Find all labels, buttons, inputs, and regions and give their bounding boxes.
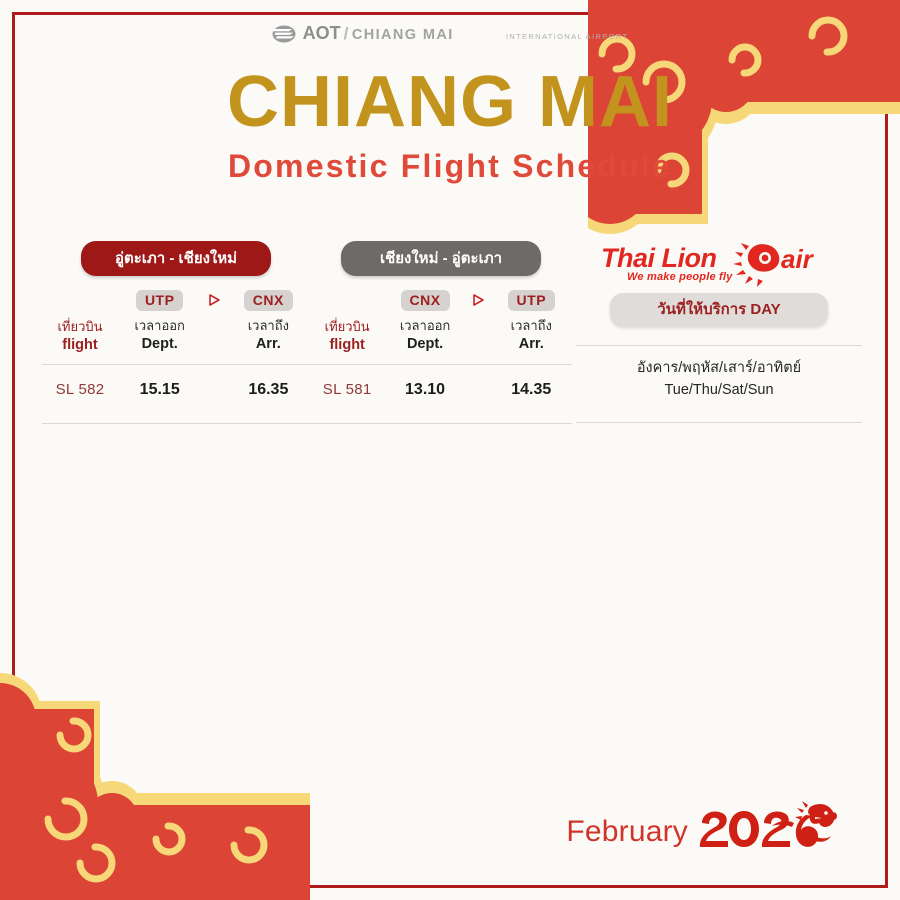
table-row: SL 582 15.15 16.35 bbox=[42, 365, 310, 414]
column-header-flight-en: flight bbox=[42, 336, 118, 356]
column-header-departure: CNX เวลาออก Dept. bbox=[384, 288, 465, 355]
column-header-arrival: CNX เวลาถึง Arr. bbox=[227, 288, 310, 355]
column-header-dept-en: Dept. bbox=[384, 335, 465, 355]
schedule-group-inbound: เชียงใหม่ - อู่ตะเภา เที่ยวบิน flight CN… bbox=[310, 241, 572, 424]
table-rule-bottom bbox=[42, 423, 310, 424]
poster-canvas: AOT/CHIANG MAI INTERNATIONAL AIRPORT CHI… bbox=[0, 0, 900, 900]
route-badge-inbound: เชียงใหม่ - อู่ตะเภา bbox=[341, 241, 541, 276]
aot-logo: AOT/CHIANG MAI INTERNATIONAL AIRPORT bbox=[0, 24, 900, 48]
column-headers-inbound: เที่ยวบิน flight CNX เวลาออก Dept. bbox=[310, 288, 572, 355]
triangle-right-icon bbox=[466, 288, 491, 312]
cell-arrival-time: 14.35 bbox=[491, 381, 572, 399]
schedule-group-airline: Thai Lion air We make people fly bbox=[576, 241, 862, 423]
aot-logo-text: AOT/CHIANG MAI INTERNATIONAL AIRPORT bbox=[303, 24, 629, 43]
horse-papercut-2026-icon bbox=[698, 801, 838, 862]
column-header-flight: เที่ยวบิน flight bbox=[310, 288, 384, 355]
svg-text:air: air bbox=[781, 244, 815, 274]
airport-subtitle: INTERNATIONAL AIRPORT bbox=[506, 32, 629, 41]
origin-airport-code-chip: UTP bbox=[136, 290, 184, 311]
cell-service-days-en: Tue/Thu/Sat/Sun bbox=[576, 380, 862, 402]
column-header-flight-en: flight bbox=[310, 336, 384, 356]
page-subtitle: Domestic Flight Schedule bbox=[0, 148, 900, 185]
column-header-arr-th: เวลาถึง bbox=[227, 317, 310, 335]
table-row: SL 581 13.10 14.35 bbox=[310, 365, 572, 414]
cell-departure-time: 13.10 bbox=[384, 381, 465, 399]
column-header-departure: UTP เวลาออก Dept. bbox=[118, 288, 201, 355]
origin-airport-code-chip: CNX bbox=[401, 290, 450, 311]
svg-text:Thai Lion: Thai Lion bbox=[601, 243, 716, 273]
poster-header: AOT/CHIANG MAI INTERNATIONAL AIRPORT CHI… bbox=[0, 0, 900, 185]
column-header-dept-en: Dept. bbox=[118, 335, 201, 355]
table-rule-bottom bbox=[576, 422, 862, 423]
column-header-flight: เที่ยวบิน flight bbox=[42, 288, 118, 355]
schedule-group-outbound: อู่ตะเภา - เชียงใหม่ เที่ยวบิน flight UT… bbox=[42, 241, 310, 424]
destination-airport-code-chip: UTP bbox=[508, 290, 556, 311]
schedule-table: อู่ตะเภา - เชียงใหม่ เที่ยวบิน flight UT… bbox=[0, 241, 900, 424]
column-header-arrival: UTP เวลาถึง Arr. bbox=[491, 288, 572, 355]
airport-name: CHIANG MAI bbox=[352, 27, 454, 43]
aot-name: AOT bbox=[303, 23, 341, 43]
column-headers-outbound: เที่ยวบิน flight UTP เวลาออก Dept. bbox=[42, 288, 310, 355]
table-row: อังคาร/พฤหัส/เสาร์/อาทิตย์ Tue/Thu/Sat/S… bbox=[576, 346, 862, 413]
cloud-corner-icon-bottom-left bbox=[0, 671, 310, 900]
route-badge-outbound: อู่ตะเภา - เชียงใหม่ bbox=[81, 241, 271, 276]
cell-service-days-th: อังคาร/พฤหัส/เสาร์/อาทิตย์ bbox=[576, 358, 862, 380]
cell-departure-time: 15.15 bbox=[118, 381, 201, 399]
month-label: February bbox=[566, 815, 688, 849]
column-header-arr-en: Arr. bbox=[491, 335, 572, 355]
poster-footer: February bbox=[566, 801, 838, 862]
service-day-badge: วันที่ให้บริการ DAY bbox=[610, 293, 828, 326]
aot-separator: / bbox=[344, 24, 349, 43]
page-title: CHIANG MAI bbox=[0, 66, 900, 138]
cell-flight-number: SL 581 bbox=[310, 381, 384, 399]
thai-lion-air-logo: Thai Lion air We make people fly bbox=[576, 241, 862, 287]
aot-globe-icon bbox=[272, 25, 296, 48]
destination-airport-code-chip: CNX bbox=[244, 290, 293, 311]
triangle-right-icon bbox=[201, 288, 226, 312]
table-rule-bottom bbox=[310, 423, 572, 424]
svg-text:We make people fly: We make people fly bbox=[627, 271, 733, 283]
column-header-arr-th: เวลาถึง bbox=[491, 317, 572, 335]
cell-arrival-time: 16.35 bbox=[227, 381, 310, 399]
column-header-flight-th: เที่ยวบิน bbox=[310, 318, 384, 336]
column-header-flight-th: เที่ยวบิน bbox=[42, 318, 118, 336]
column-header-arr-en: Arr. bbox=[227, 335, 310, 355]
column-header-dept-th: เวลาออก bbox=[384, 317, 465, 335]
cell-flight-number: SL 582 bbox=[42, 381, 118, 399]
column-header-dept-th: เวลาออก bbox=[118, 317, 201, 335]
